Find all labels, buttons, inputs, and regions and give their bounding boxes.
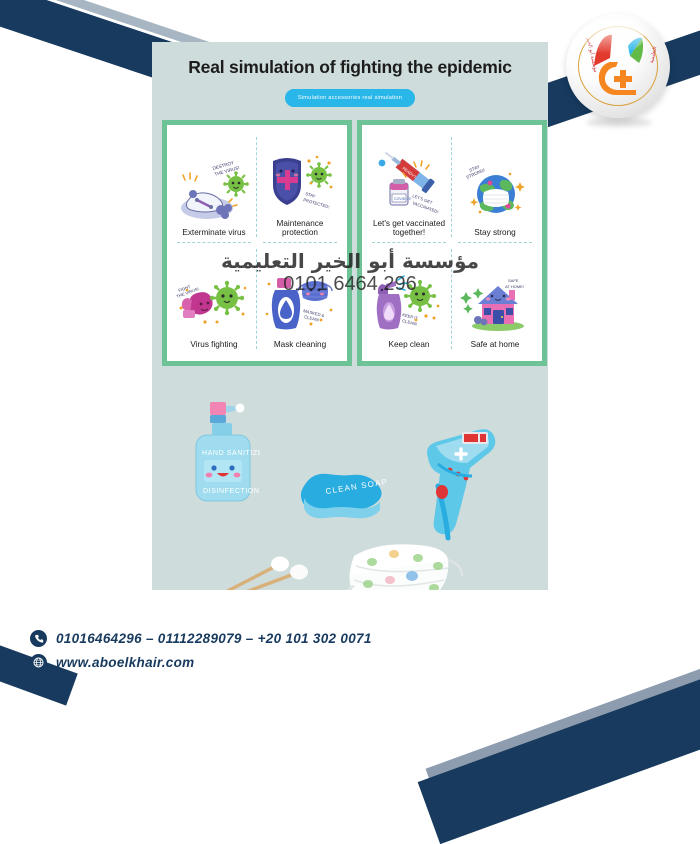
product-photo-area: HAND SANITIZER DISINFECTION CLEAN SOAP (152, 394, 548, 590)
cotton-swabs (214, 554, 324, 590)
boxing-glove-virus-icon: FIGHT THE VIRUS! (173, 270, 255, 336)
phone-icon (30, 630, 47, 647)
card-keep-clean[interactable]: KEEP IT CLEAN! Keep clean (366, 243, 452, 355)
spray-bottle-virus-icon: KEEP IT CLEAN! (368, 270, 450, 336)
svg-text:SAFE: SAFE (508, 278, 519, 283)
card-exterminate-virus[interactable]: DESTROY THE VIRUS! (171, 131, 257, 243)
card-label: Keep clean (389, 340, 430, 349)
svg-text:DISINFECTION: DISINFECTION (203, 488, 260, 495)
footer-phone-row: 01016464296 – 01112289079 – +20 101 302 … (30, 630, 372, 647)
logo-child-figure-icon (596, 58, 640, 98)
card-label: Mask cleaning (274, 340, 326, 349)
hand-sanitizer-bottle: HAND SANITIZER DISINFECTION (182, 400, 260, 532)
shield-virus-icon: STAY PROTECTED! (259, 149, 341, 215)
page-title: Real simulation of fighting the epidemic (152, 57, 548, 78)
detergent-mask-icon: MASKED & CLEAN! (259, 270, 341, 336)
footer-phone-numbers[interactable]: 01016464296 – 01112289079 – +20 101 302 … (56, 631, 372, 646)
card-mask-cleaning[interactable]: MASKED & CLEAN! Mask cleaning (257, 243, 343, 355)
globe-icon (30, 654, 47, 671)
card-maintenance-protection[interactable]: STAY PROTECTED! (257, 131, 343, 243)
card-label: Exterminate virus (182, 228, 245, 237)
logo-gloss-highlight (582, 20, 644, 54)
house-icon: SAFE AT HOME! (454, 270, 536, 336)
card-safe-at-home[interactable]: SAFE AT HOME! (452, 243, 538, 355)
card-label: Stay strong (474, 228, 515, 237)
card-virus-fighting[interactable]: FIGHT THE VIRUS! (171, 243, 257, 355)
logo-shadow (586, 118, 652, 127)
childrens-face-mask (338, 532, 464, 590)
card-stay-strong[interactable]: STAY STRONG! (452, 131, 538, 243)
brand-logo-badge: مؤسسة أبو الخير التعليمية (566, 14, 670, 118)
earth-mask-icon: STAY STRONG! (454, 158, 536, 224)
shoe-spray-virus-icon: DESTROY THE VIRUS! (173, 158, 255, 224)
card-grid: DESTROY THE VIRUS! (162, 120, 538, 366)
footer-website[interactable]: www.aboelkhair.com (56, 655, 194, 670)
card-grid-right: READY? COVID-19 LET'S GET VACCINATED! (357, 120, 547, 366)
syringe-vaccine-icon: READY? COVID-19 LET'S GET VACCINATED! (368, 149, 450, 215)
poster: Real simulation of fighting the epidemic… (152, 42, 548, 590)
corner-decoration-bottom-right-band (418, 618, 700, 844)
card-lets-get-vaccinated[interactable]: READY? COVID-19 LET'S GET VACCINATED! (366, 131, 452, 243)
svg-text:AT HOME!: AT HOME! (505, 284, 524, 289)
svg-text:HAND SANITIZER: HAND SANITIZER (202, 450, 260, 457)
card-label: Virus fighting (190, 340, 237, 349)
clean-soap-bar: CLEAN SOAP (290, 460, 396, 526)
footer-website-row: www.aboelkhair.com (30, 654, 372, 671)
svg-text:COVID-19: COVID-19 (394, 197, 411, 201)
card-label: Maintenance protection (259, 219, 341, 237)
card-label: Let's get vaccinated together! (368, 219, 450, 237)
card-grid-left: DESTROY THE VIRUS! (162, 120, 352, 366)
subtitle-badge: Simulation accessories real simulation (285, 89, 415, 107)
card-label: Safe at home (471, 340, 520, 349)
footer-contact: 01016464296 – 01112289079 – +20 101 302 … (30, 630, 372, 678)
svg-text:PROTECTED!: PROTECTED! (303, 197, 330, 209)
